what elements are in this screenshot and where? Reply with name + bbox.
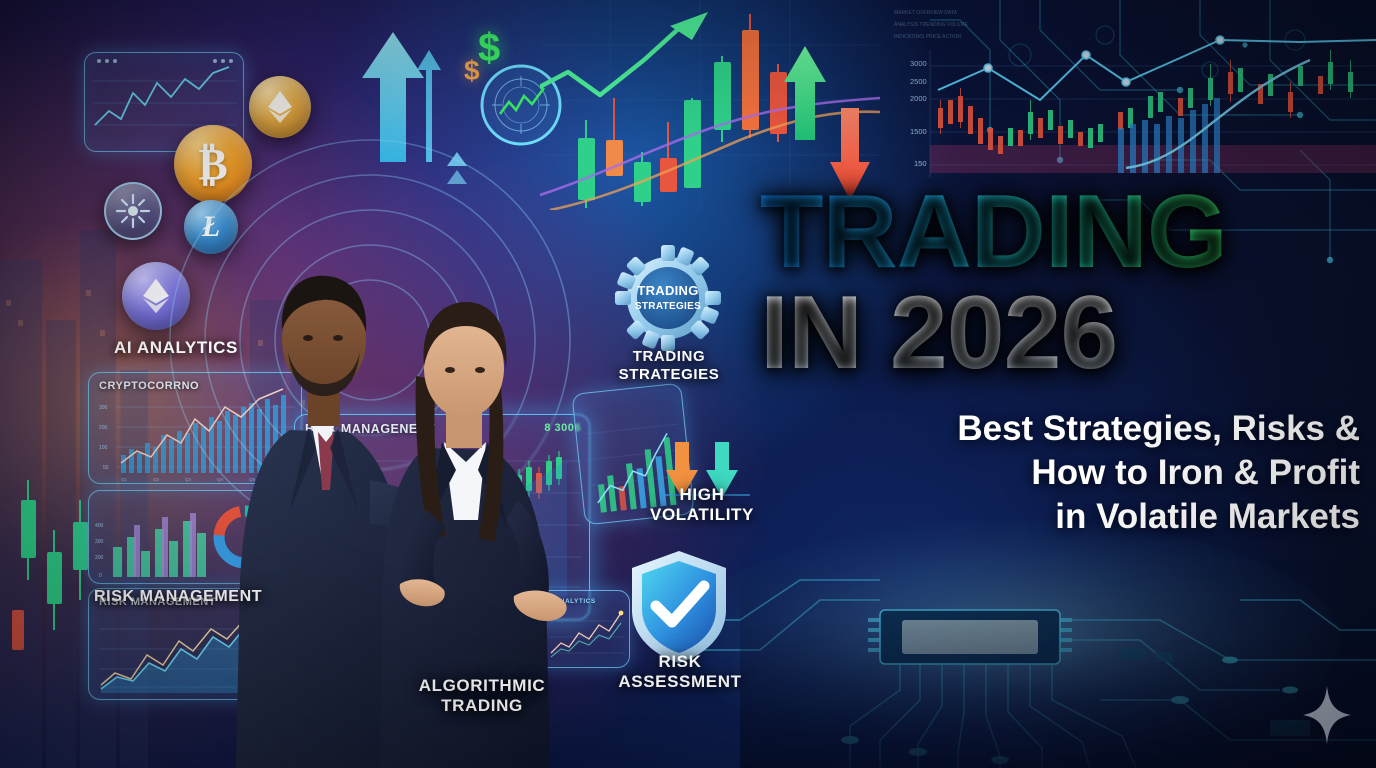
svg-text:400: 400 [95,523,104,529]
label-ai-analytics: AI ANALYTICS [86,338,266,358]
svg-text:200: 200 [99,425,108,431]
subtitle-line-1: Best Strategies, Risks & [760,407,1360,451]
label-risk-assessment: RISK ASSESSMENT [612,652,748,691]
svg-text:300: 300 [95,539,104,545]
svg-text:100: 100 [99,445,108,451]
svg-text:300: 300 [99,405,108,411]
svg-text:2500: 2500 [910,77,927,86]
poster-canvas: 30002500 20001500 150 [0,0,1376,768]
svg-text:1500: 1500 [910,127,927,136]
svg-text:50: 50 [103,465,109,471]
shield-check-icon[interactable] [626,548,732,666]
svg-text:INDICATORS PRICE ACTION: INDICATORS PRICE ACTION [894,34,961,40]
subtitle-line-3: in Volatile Markets [760,495,1360,539]
svg-text:MARKET OVERVIEW DATA: MARKET OVERVIEW DATA [894,10,958,16]
node-spokes-glyph [112,190,154,232]
svg-text:0: 0 [99,573,102,579]
label-high-volatility: HIGH VOLATILITY [638,485,766,524]
subtitle-line-2: How to Iron & Profit [760,451,1360,495]
label-algorithmic-trading: ALGORITHMIC TRADING [398,676,566,715]
sparkle-icon [1302,686,1352,744]
label-trading-strategies: TRADING STRATEGIES [608,348,730,383]
page-title-line2: IN 2026 [760,281,1360,385]
arrow-up-green-big-icon [782,42,828,142]
svg-text:3000: 3000 [910,59,927,68]
ethereum-gold-coin[interactable] [249,76,311,138]
svg-text:Q2: Q2 [153,477,160,482]
headline-block: TRADING IN 2026 Best Strategies, Risks &… [760,185,1360,539]
background-market-chart: 30002500 20001500 150 [890,0,1376,195]
svg-text:2000: 2000 [910,94,927,103]
svg-text:150: 150 [914,159,927,168]
ethereum-glyph [267,90,293,124]
network-node-icon[interactable] [104,182,162,240]
label-risk-management-left: RISK MANAGEMENT [86,588,301,606]
svg-text:200: 200 [95,555,104,561]
left-accent-candles [10,460,100,690]
subtitle-block: Best Strategies, Risks & How to Iron & P… [760,407,1360,539]
svg-text:ANALYSIS TRENDING VOLUME: ANALYSIS TRENDING VOLUME [894,22,969,28]
svg-text:Q1: Q1 [121,477,128,482]
page-title-line1: TRADING [760,185,1360,281]
